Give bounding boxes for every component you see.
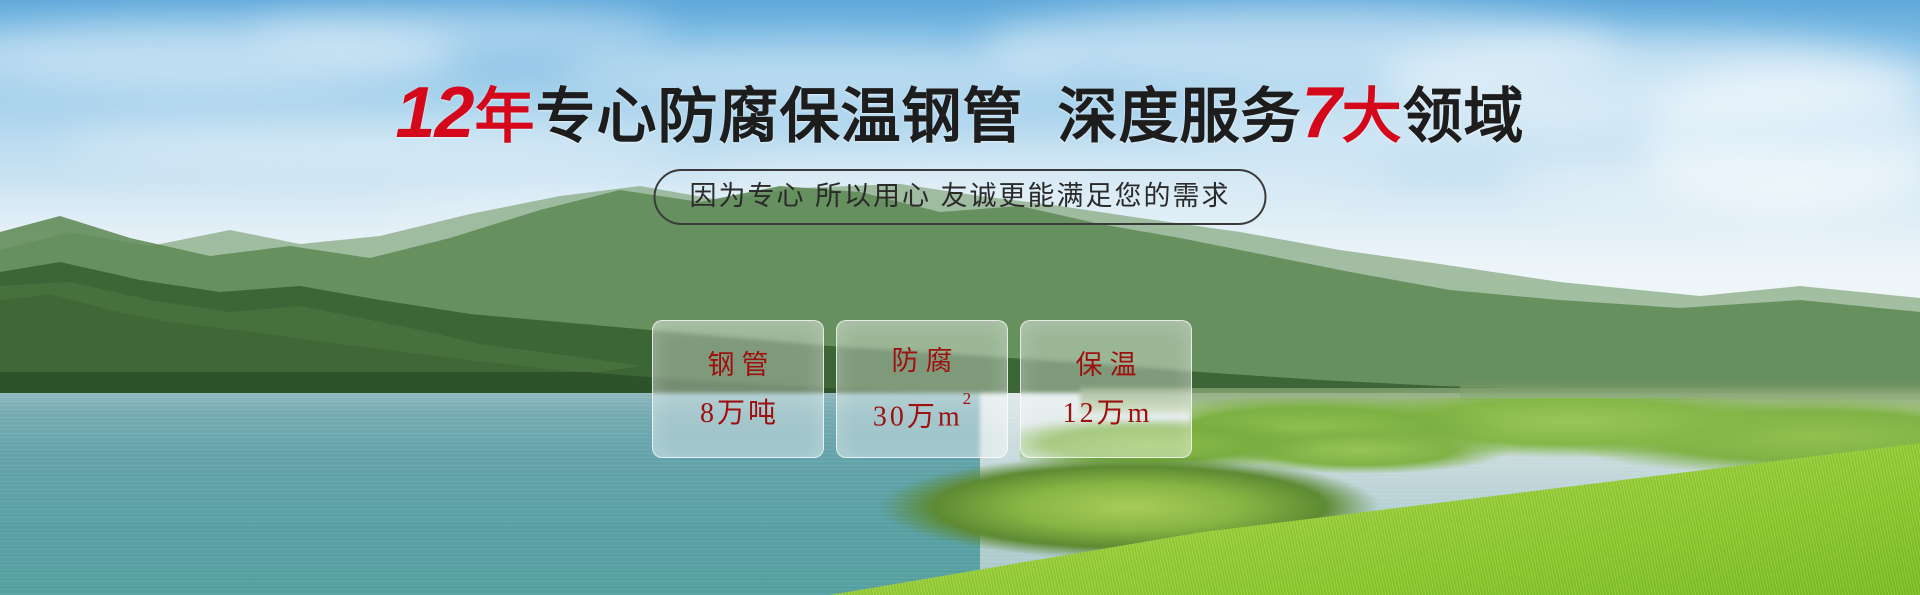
stat-card-value: 12万m <box>1060 398 1153 430</box>
subtitle-pill: 因为专心 所以用心 友诚更能满足您的需求 <box>653 169 1266 225</box>
headline-fields-text: 领域 <box>1403 83 1525 150</box>
headline-fields-number: 7 <box>1302 73 1341 153</box>
headline-service-text: 深度服务 <box>1058 83 1302 150</box>
stat-card-title: 钢管 <box>701 348 776 382</box>
stat-card[interactable]: 防腐 30万m2 <box>836 320 1008 458</box>
headline-fields-da: 大 <box>1342 83 1403 150</box>
subtitle-text: 因为专心 所以用心 友诚更能满足您的需求 <box>689 181 1230 211</box>
stat-value-text: 8万吨 <box>700 398 779 429</box>
headline-years-number: 12 <box>395 73 473 153</box>
headline: 12年专心防腐保温钢管深度服务7大领域 <box>0 78 1920 152</box>
stat-card-title: 保温 <box>1069 348 1144 382</box>
stat-value-text: 30万m <box>873 402 963 433</box>
stat-card[interactable]: 钢管 8万吨 <box>652 320 824 458</box>
stat-card[interactable]: 保温 12万m <box>1020 320 1192 458</box>
stat-card-value: 30万m2 <box>870 394 974 433</box>
headline-years-unit: 年 <box>475 83 536 150</box>
banner-content: 12年专心防腐保温钢管深度服务7大领域 因为专心 所以用心 友诚更能满足您的需求… <box>0 0 1920 595</box>
stat-card-title: 防腐 <box>885 344 960 378</box>
stat-card-group: 钢管 8万吨 防腐 30万m2 保温 12万m <box>652 320 1192 458</box>
stat-card-value: 8万吨 <box>697 398 779 430</box>
stat-value-text: 12万m <box>1063 398 1153 429</box>
stat-value-superscript: 2 <box>963 389 975 408</box>
hero-banner: 12年专心防腐保温钢管深度服务7大领域 因为专心 所以用心 友诚更能满足您的需求… <box>0 0 1920 595</box>
headline-main-text: 专心防腐保温钢管 <box>536 83 1024 150</box>
